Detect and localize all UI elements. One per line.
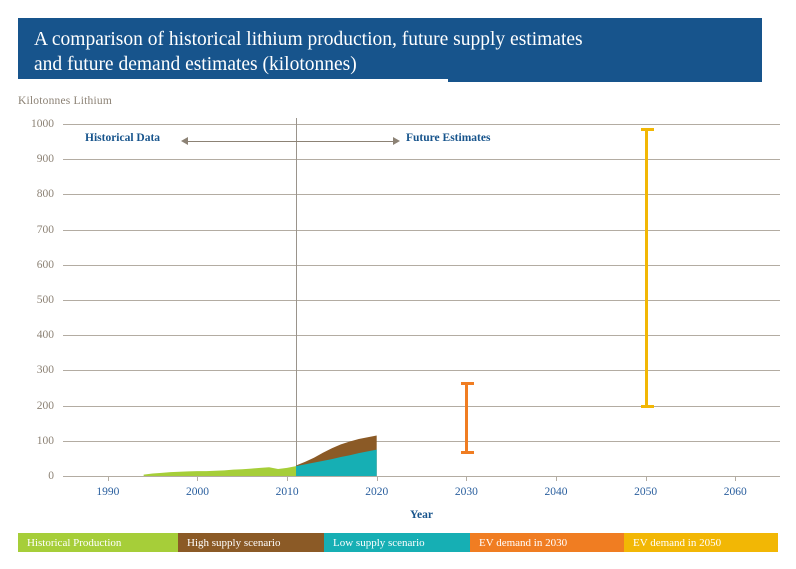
legend-item-1[interactable]: High supply scenario <box>178 533 324 552</box>
y-axis-tick-label: 200 <box>37 400 54 412</box>
x-axis-tick-mark <box>556 476 557 481</box>
x-axis-tick-mark <box>646 476 647 481</box>
legend-item-4[interactable]: EV demand in 2050 <box>624 533 778 552</box>
range-bar-cap <box>461 382 474 385</box>
x-axis-tick-label: 2020 <box>365 486 388 498</box>
x-axis-tick-mark <box>377 476 378 481</box>
chart-title-line1: A comparison of historical lithium produ… <box>34 27 746 52</box>
y-axis-caption: Kilotonnes Lithium <box>18 95 112 107</box>
y-axis-tick-label: 100 <box>37 435 54 447</box>
y-axis-tick-label: 300 <box>37 364 54 376</box>
x-axis-tick-mark <box>735 476 736 481</box>
y-axis-tick-label: 700 <box>37 224 54 236</box>
range-bar-cap <box>641 405 654 408</box>
x-axis-tick-label: 2050 <box>634 486 657 498</box>
series-layer <box>63 124 780 476</box>
chart-title-line2: and future demand estimates (kilotonnes) <box>34 52 746 77</box>
gridline <box>63 476 780 477</box>
x-axis-tick-mark <box>108 476 109 481</box>
y-axis-tick-label: 800 <box>37 188 54 200</box>
chart-legend: Historical ProductionHigh supply scenari… <box>18 533 778 552</box>
x-axis-tick-label: 2030 <box>455 486 478 498</box>
area-series <box>144 466 296 476</box>
y-axis-tick-label: 1000 <box>31 118 54 130</box>
legend-item-0[interactable]: Historical Production <box>18 533 178 552</box>
range-bar <box>465 382 468 455</box>
y-axis-tick-label: 500 <box>37 294 54 306</box>
legend-item-3[interactable]: EV demand in 2030 <box>470 533 624 552</box>
title-underline-accent <box>18 79 448 82</box>
range-bar <box>645 128 648 408</box>
y-axis-tick-label: 900 <box>37 153 54 165</box>
x-axis-tick-label: 2000 <box>186 486 209 498</box>
x-axis-tick-mark <box>197 476 198 481</box>
x-axis-title: Year <box>63 509 780 521</box>
x-axis-tick-label: 2010 <box>276 486 299 498</box>
plot-area: Year 01002003004005006007008009001000199… <box>63 124 780 476</box>
x-axis-tick-label: 1990 <box>96 486 119 498</box>
x-axis-tick-label: 2060 <box>724 486 747 498</box>
x-axis-tick-mark <box>466 476 467 481</box>
y-axis-tick-label: 0 <box>48 470 54 482</box>
range-bar-cap <box>461 451 474 454</box>
x-axis-tick-mark <box>287 476 288 481</box>
chart-title-banner: A comparison of historical lithium produ… <box>18 18 762 79</box>
y-axis-tick-label: 600 <box>37 259 54 271</box>
y-axis-tick-label: 400 <box>37 329 54 341</box>
legend-item-2[interactable]: Low supply scenario <box>324 533 470 552</box>
x-axis-tick-label: 2040 <box>544 486 567 498</box>
chart-page: A comparison of historical lithium produ… <box>0 0 796 569</box>
range-bar-cap <box>641 128 654 131</box>
